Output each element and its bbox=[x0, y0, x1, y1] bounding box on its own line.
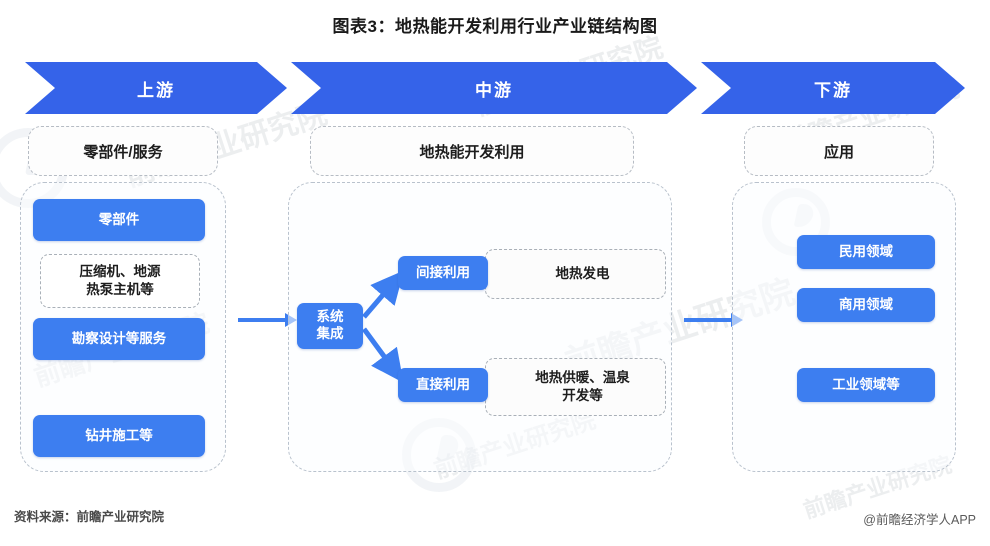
source-note: 资料来源：前瞻产业研究院 bbox=[14, 506, 164, 525]
downstream-item-industrial[interactable]: 工业领域等 bbox=[797, 368, 935, 402]
downstream-header: 应用 bbox=[744, 126, 934, 176]
banner-segment-midstream[interactable]: 中游 bbox=[291, 62, 697, 114]
stage-banner: 上游 中游 下游 bbox=[25, 62, 965, 114]
connector-upstream-to-midstream bbox=[238, 318, 286, 322]
banner-segment-downstream[interactable]: 下游 bbox=[701, 62, 965, 114]
app-credit: @前瞻经济学人APP bbox=[863, 509, 976, 528]
downstream-item-commercial[interactable]: 商用领域 bbox=[797, 288, 935, 322]
page-title: 图表3：地热能开发利用行业产业链结构图 bbox=[0, 12, 990, 37]
midstream-header: 地热能开发利用 bbox=[310, 126, 634, 176]
upstream-header: 零部件/服务 bbox=[28, 126, 218, 176]
banner-segment-upstream[interactable]: 上游 bbox=[25, 62, 287, 114]
banner-segment-label: 下游 bbox=[814, 76, 852, 101]
upstream-item-parts[interactable]: 零部件 bbox=[33, 199, 205, 241]
midstream-target-heating-hotspring[interactable]: 地热供暖、温泉 开发等 bbox=[485, 358, 666, 416]
downstream-body bbox=[732, 182, 956, 472]
midstream-branch-direct[interactable]: 直接利用 bbox=[398, 368, 488, 402]
upstream-item-survey-design[interactable]: 勘察设计等服务 bbox=[33, 318, 205, 360]
connector-midstream-to-downstream bbox=[684, 318, 732, 322]
banner-segment-label: 上游 bbox=[137, 76, 175, 101]
midstream-branch-indirect[interactable]: 间接利用 bbox=[398, 256, 488, 290]
upstream-item-drilling[interactable]: 钻井施工等 bbox=[33, 415, 205, 457]
chart-canvas: 前瞻产业研究院 前瞻产业研究院 前瞻产业研究院 前瞻产业研究院 前瞻产业研究院 … bbox=[0, 0, 990, 546]
downstream-item-residential[interactable]: 民用领域 bbox=[797, 235, 935, 269]
midstream-root-system-integration[interactable]: 系统 集成 bbox=[297, 303, 363, 349]
midstream-target-power-generation[interactable]: 地热发电 bbox=[485, 249, 666, 299]
upstream-item-compressor[interactable]: 压缩机、地源 热泵主机等 bbox=[40, 254, 200, 308]
banner-segment-label: 中游 bbox=[475, 76, 513, 101]
